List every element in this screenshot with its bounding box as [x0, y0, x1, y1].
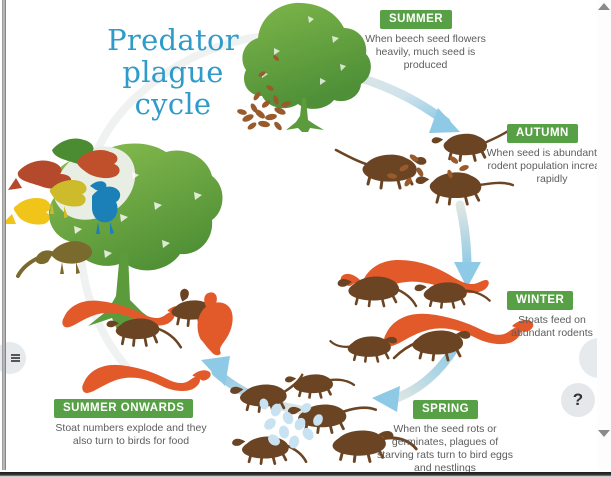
- stage-label-autumn: AUTUMN: [507, 124, 578, 143]
- page-title: Predator plague cycle: [68, 24, 278, 120]
- scroll-down-arrow-icon[interactable]: [598, 430, 610, 437]
- infographic-canvas: Predator plague cycle SUMMER When beech …: [8, 0, 603, 470]
- vertical-scrollbar[interactable]: [597, 0, 611, 470]
- stage-caption-winter: Stoats feed on abundant rodents: [495, 314, 609, 340]
- winter-stoats-group: [330, 260, 533, 362]
- stoat-silhouette: [82, 365, 210, 393]
- arrow-autumn-to-winter: [454, 205, 481, 288]
- stage-label-summer: SUMMER: [380, 10, 452, 29]
- title-line-2: plague: [68, 56, 278, 88]
- stage-label-spring: SPRING: [413, 400, 478, 419]
- document-viewer-page: Predator plague cycle SUMMER When beech …: [0, 0, 611, 477]
- stage-caption-autumn: When seed is abundant, the rodent popula…: [485, 147, 611, 186]
- stage-caption-summer: When beech seed flowers heavily, much se…: [363, 33, 488, 72]
- window-left-border: [2, 0, 6, 470]
- rat-silhouette: [106, 318, 180, 347]
- stage-caption-summer-onwards: Stoat numbers explode and they also turn…: [51, 422, 211, 448]
- stage-label-winter: WINTER: [507, 291, 573, 310]
- scroll-up-arrow-icon[interactable]: [598, 3, 610, 10]
- bird-kiwi-icon: [50, 241, 92, 263]
- help-button[interactable]: ?: [561, 383, 595, 417]
- stage-label-summer-onwards: SUMMER ONWARDS: [54, 399, 193, 418]
- stage-caption-spring: When the seed rots or germinates, plague…: [374, 423, 516, 475]
- window-bottom-border: [0, 472, 611, 477]
- title-line-3: cycle: [68, 88, 278, 120]
- bird-yellowhead-icon: [14, 198, 51, 225]
- title-line-1: Predator: [68, 24, 278, 56]
